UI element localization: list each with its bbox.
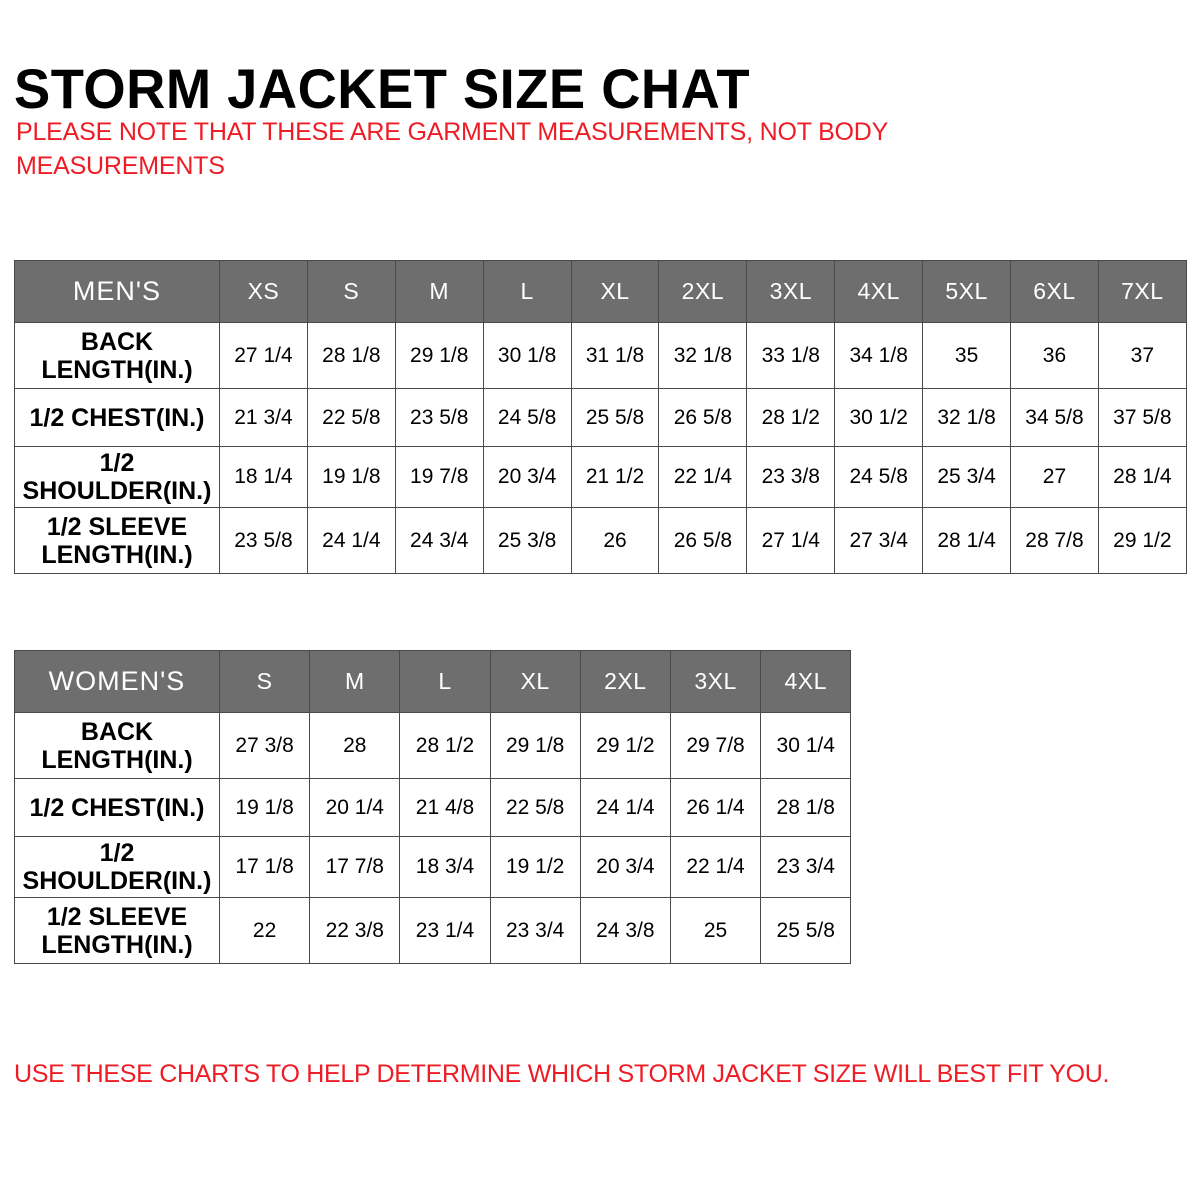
page-title: STORM JACKET SIZE CHAT (14, 60, 750, 119)
mens-size-header-6xl: 6XL (1011, 261, 1099, 323)
womens-size-header-s: S (220, 651, 310, 713)
mens-size-header-7xl: 7XL (1098, 261, 1186, 323)
mens-size-header-5xl: 5XL (923, 261, 1011, 323)
mens-measure-value: 26 (571, 508, 659, 574)
mens-measure-value: 37 (1098, 323, 1186, 389)
mens-measure-value: 19 1/8 (307, 447, 395, 508)
mens-size-header-2xl: 2XL (659, 261, 747, 323)
mens-size-header-4xl: 4XL (835, 261, 923, 323)
note-garment-measurements: PLEASE NOTE THAT THESE ARE GARMENT MEASU… (16, 116, 966, 183)
mens-measure-value: 27 3/4 (835, 508, 923, 574)
womens-header-row: WOMEN'S SMLXL2XL3XL4XL (15, 651, 851, 713)
womens-measure-value: 21 4/8 (400, 779, 490, 837)
mens-size-header-xs: XS (220, 261, 308, 323)
womens-table-header: WOMEN'S SMLXL2XL3XL4XL (15, 651, 851, 713)
mens-measure-value: 23 5/8 (395, 389, 483, 447)
mens-measure-value: 25 3/4 (923, 447, 1011, 508)
mens-table-header: MEN'S XSSMLXL2XL3XL4XL5XL6XL7XL (15, 261, 1187, 323)
mens-measure-value: 18 1/4 (220, 447, 308, 508)
womens-corner-label: WOMEN'S (15, 651, 220, 713)
womens-measure-value: 25 5/8 (761, 898, 851, 964)
womens-size-header-3xl: 3XL (670, 651, 760, 713)
mens-table-body: BACKLENGTH(IN.)27 1/428 1/829 1/830 1/83… (15, 323, 1187, 574)
mens-measure-value: 22 1/4 (659, 447, 747, 508)
womens-measure-value: 28 1/2 (400, 713, 490, 779)
womens-measure-value: 28 (310, 713, 400, 779)
womens-size-table: WOMEN'S SMLXL2XL3XL4XL BACKLENGTH(IN.)27… (14, 650, 851, 964)
womens-measure-value: 22 1/4 (670, 837, 760, 898)
mens-measure-value: 21 3/4 (220, 389, 308, 447)
mens-size-header-xl: XL (571, 261, 659, 323)
mens-size-header-3xl: 3XL (747, 261, 835, 323)
mens-measure-value: 35 (923, 323, 1011, 389)
womens-table-body: BACKLENGTH(IN.)27 3/82828 1/229 1/829 1/… (15, 713, 851, 964)
womens-measure-value: 29 1/8 (490, 713, 580, 779)
mens-measure-value: 28 1/4 (923, 508, 1011, 574)
womens-measure-value: 19 1/2 (490, 837, 580, 898)
note-use-charts: USE THESE CHARTS TO HELP DETERMINE WHICH… (14, 1058, 1194, 1091)
mens-measure-value: 23 3/8 (747, 447, 835, 508)
mens-measure-value: 33 1/8 (747, 323, 835, 389)
womens-size-header-l: L (400, 651, 490, 713)
womens-measure-label: BACKLENGTH(IN.) (15, 713, 220, 779)
womens-measure-value: 28 1/8 (761, 779, 851, 837)
mens-measure-value: 32 1/8 (923, 389, 1011, 447)
table-row: BACKLENGTH(IN.)27 3/82828 1/229 1/829 1/… (15, 713, 851, 779)
womens-measure-value: 22 (220, 898, 310, 964)
mens-measure-value: 37 5/8 (1098, 389, 1186, 447)
size-chart-page: STORM JACKET SIZE CHAT PLEASE NOTE THAT … (0, 0, 1200, 1200)
womens-measure-label: 1/2 CHEST(IN.) (15, 779, 220, 837)
womens-measure-label: 1/2 SHOULDER(IN.) (15, 837, 220, 898)
womens-measure-value: 23 1/4 (400, 898, 490, 964)
womens-measure-value: 25 (670, 898, 760, 964)
womens-measure-value: 23 3/4 (761, 837, 851, 898)
womens-measure-value: 20 1/4 (310, 779, 400, 837)
womens-measure-value: 23 3/4 (490, 898, 580, 964)
mens-measure-value: 29 1/2 (1098, 508, 1186, 574)
mens-size-header-l: L (483, 261, 571, 323)
mens-measure-value: 21 1/2 (571, 447, 659, 508)
mens-measure-value: 36 (1011, 323, 1099, 389)
mens-measure-value: 34 5/8 (1011, 389, 1099, 447)
mens-measure-value: 28 1/4 (1098, 447, 1186, 508)
womens-measure-value: 20 3/4 (580, 837, 670, 898)
womens-measure-value: 24 3/8 (580, 898, 670, 964)
womens-size-header-4xl: 4XL (761, 651, 851, 713)
mens-measure-value: 28 7/8 (1011, 508, 1099, 574)
mens-measure-label: 1/2 SLEEVELENGTH(IN.) (15, 508, 220, 574)
mens-size-header-m: M (395, 261, 483, 323)
mens-measure-value: 26 5/8 (659, 508, 747, 574)
womens-measure-value: 19 1/8 (220, 779, 310, 837)
womens-measure-value: 24 1/4 (580, 779, 670, 837)
mens-measure-value: 32 1/8 (659, 323, 747, 389)
mens-measure-value: 30 1/2 (835, 389, 923, 447)
womens-size-table-container: WOMEN'S SMLXL2XL3XL4XL BACKLENGTH(IN.)27… (14, 650, 851, 964)
womens-measure-value: 22 3/8 (310, 898, 400, 964)
womens-measure-value: 22 5/8 (490, 779, 580, 837)
mens-size-table: MEN'S XSSMLXL2XL3XL4XL5XL6XL7XL BACKLENG… (14, 260, 1187, 574)
womens-size-header-m: M (310, 651, 400, 713)
mens-measure-value: 25 3/8 (483, 508, 571, 574)
table-row: 1/2 SHOULDER(IN.)17 1/817 7/818 3/419 1/… (15, 837, 851, 898)
mens-measure-value: 22 5/8 (307, 389, 395, 447)
mens-header-row: MEN'S XSSMLXL2XL3XL4XL5XL6XL7XL (15, 261, 1187, 323)
womens-size-header-xl: XL (490, 651, 580, 713)
mens-measure-value: 29 1/8 (395, 323, 483, 389)
mens-size-table-container: MEN'S XSSMLXL2XL3XL4XL5XL6XL7XL BACKLENG… (14, 260, 1186, 574)
mens-measure-label: BACKLENGTH(IN.) (15, 323, 220, 389)
mens-measure-label: 1/2 CHEST(IN.) (15, 389, 220, 447)
mens-measure-value: 26 5/8 (659, 389, 747, 447)
mens-measure-value: 31 1/8 (571, 323, 659, 389)
womens-measure-value: 17 7/8 (310, 837, 400, 898)
mens-measure-value: 28 1/2 (747, 389, 835, 447)
womens-measure-value: 29 7/8 (670, 713, 760, 779)
mens-measure-value: 27 (1011, 447, 1099, 508)
table-row: BACKLENGTH(IN.)27 1/428 1/829 1/830 1/83… (15, 323, 1187, 389)
womens-measure-value: 30 1/4 (761, 713, 851, 779)
mens-measure-value: 20 3/4 (483, 447, 571, 508)
mens-measure-value: 24 3/4 (395, 508, 483, 574)
mens-measure-value: 24 5/8 (835, 447, 923, 508)
womens-measure-value: 17 1/8 (220, 837, 310, 898)
mens-measure-value: 34 1/8 (835, 323, 923, 389)
womens-measure-label: 1/2 SLEEVELENGTH(IN.) (15, 898, 220, 964)
womens-measure-value: 27 3/8 (220, 713, 310, 779)
womens-measure-value: 18 3/4 (400, 837, 490, 898)
mens-measure-label: 1/2 SHOULDER(IN.) (15, 447, 220, 508)
womens-measure-value: 26 1/4 (670, 779, 760, 837)
mens-measure-value: 30 1/8 (483, 323, 571, 389)
mens-measure-value: 28 1/8 (307, 323, 395, 389)
table-row: 1/2 SLEEVELENGTH(IN.)23 5/824 1/424 3/42… (15, 508, 1187, 574)
mens-measure-value: 27 1/4 (220, 323, 308, 389)
womens-measure-value: 29 1/2 (580, 713, 670, 779)
table-row: 1/2 CHEST(IN.)19 1/820 1/421 4/822 5/824… (15, 779, 851, 837)
mens-corner-label: MEN'S (15, 261, 220, 323)
mens-measure-value: 19 7/8 (395, 447, 483, 508)
womens-size-header-2xl: 2XL (580, 651, 670, 713)
mens-measure-value: 24 1/4 (307, 508, 395, 574)
mens-measure-value: 24 5/8 (483, 389, 571, 447)
table-row: 1/2 CHEST(IN.)21 3/422 5/823 5/824 5/825… (15, 389, 1187, 447)
mens-measure-value: 25 5/8 (571, 389, 659, 447)
table-row: 1/2 SLEEVELENGTH(IN.)2222 3/823 1/423 3/… (15, 898, 851, 964)
mens-size-header-s: S (307, 261, 395, 323)
table-row: 1/2 SHOULDER(IN.)18 1/419 1/819 7/820 3/… (15, 447, 1187, 508)
mens-measure-value: 27 1/4 (747, 508, 835, 574)
mens-measure-value: 23 5/8 (220, 508, 308, 574)
